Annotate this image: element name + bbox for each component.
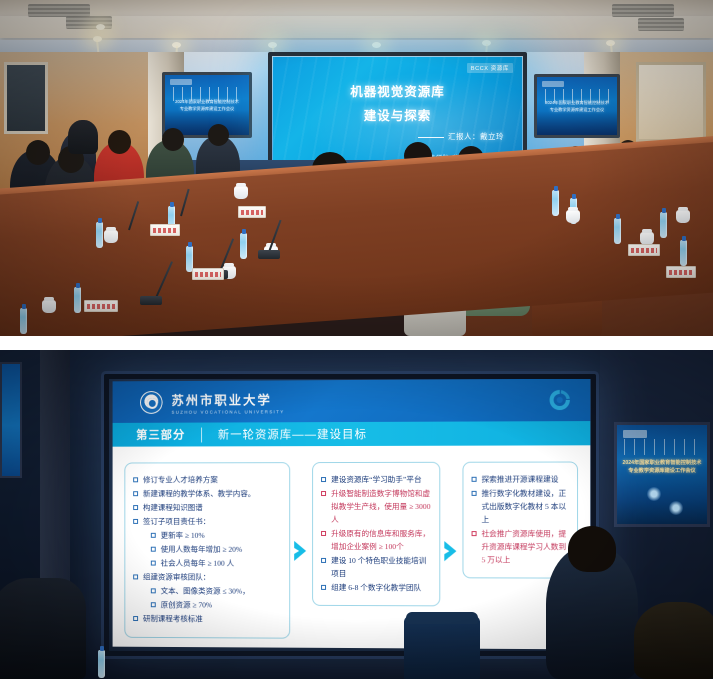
side-monitor-right: 2024年国家职业教育智能控制技术 专业教学资源库建设工作会议 (534, 74, 620, 138)
slide-bullet: 建设资源库“学习助手”平台 (321, 473, 431, 486)
slide-bullet: 社会推广资源库使用，提升资源库课程学习人数到 5 万以上 (471, 527, 569, 567)
bullet-square-icon (321, 558, 326, 563)
slide-column-2: 建设资源库“学习助手”平台升级智能制造数字博物馆和虚拟教学生产线，使用量 ≥ 3… (312, 462, 440, 607)
attendee-head (108, 130, 131, 154)
bullet-square-icon (321, 491, 326, 496)
ceiling-light (96, 24, 105, 30)
name-card (192, 268, 224, 280)
attendee-head (26, 140, 50, 165)
side-monitor-left-display: 2024年国家职业教育智能控制技术 专业教学资源库建设工作会议 (165, 75, 249, 135)
banner-line-2: 专业教学资源库建设工作会议 (540, 107, 614, 114)
bullet-square-icon (133, 505, 138, 510)
screen-corner-logo: BCCX 资源库 (467, 63, 513, 73)
projected-slide: 苏州市职业大学 SUZHOU VOCATIONAL UNIVERSITY 第三部… (113, 379, 591, 650)
banner-line-1: 2024年国家职业教育智能控制技术 (620, 459, 704, 468)
slide-bullet-text: 原创资源 ≥ 70% (161, 599, 213, 612)
slide-bullet-text: 文本、图像类资源 ≤ 30%， (161, 585, 250, 598)
slide-bullet-text: 社会推广资源库使用，提升资源库课程学习人数到 5 万以上 (481, 527, 568, 567)
name-card (666, 266, 696, 278)
university-name-block: 苏州市职业大学 SUZHOU VOCATIONAL UNIVERSITY (171, 389, 284, 414)
photo-gutter (0, 336, 713, 350)
window-left (4, 62, 48, 134)
slide-bullet-text: 探索推进开源课程建设 (481, 473, 558, 486)
chair-back (406, 612, 478, 624)
photo-conference-room-wide: 2024年国家职业教育智能控制技术 专业教学资源库建设工作会议 BCCX 资源库… (0, 0, 713, 336)
water-bottle (98, 650, 105, 678)
side-monitor-right-text: 2024年国家职业教育智能控制技术 专业教学资源库建设工作会议 (540, 100, 614, 113)
slide-bullet-text: 升级智能制造数字博物馆和虚拟教学生产线，使用量 ≥ 3000人 (331, 487, 431, 526)
name-card (84, 300, 118, 312)
tea-cup (42, 300, 56, 313)
window-right (636, 62, 706, 142)
screen-title-line-2: 建设与探索 (273, 105, 522, 124)
ac-vent-icon (66, 16, 112, 29)
slide-column-1: 修订专业人才培养方案新建课程的教学体系、教学内容。构建课程知识图谱签订子项目责任… (124, 462, 290, 638)
university-logo-icon (542, 81, 564, 87)
attendee-head (568, 526, 616, 572)
screen-title-line-1: 机器视觉资源库 (273, 81, 522, 100)
chair (404, 616, 480, 679)
section-title: 新一轮资源库——建设目标 (218, 426, 367, 442)
slide-bullet-text: 社会人员每年 ≥ 100 人 (161, 557, 234, 570)
light-orb (669, 501, 683, 515)
slide-bullet-text: 推行数字化教材建设，正式出版数字化教材 5 本以上 (481, 487, 568, 527)
bullet-square-icon (133, 519, 138, 524)
banner-line-2: 专业教学资源库建设工作会议 (168, 106, 246, 113)
water-bottle (96, 222, 103, 248)
ceiling-light (372, 42, 381, 48)
bullet-square-icon (133, 477, 138, 482)
microphone-base (258, 250, 280, 259)
slide-bullet: 建设 10 个特色职业技能培训项目 (321, 554, 431, 580)
slide-bullet: 研制课程考核标准 (133, 613, 281, 627)
water-bottle (552, 190, 559, 216)
ac-vent-icon (612, 4, 674, 17)
slide-bullet: 推行数字化教材建设，正式出版数字化教材 5 本以上 (471, 487, 569, 527)
attendee (68, 120, 98, 154)
slide-bullet-text: 签订子项目责任书： (143, 515, 210, 528)
water-bottle (680, 240, 687, 266)
screen-presenter: 汇报人：戴立玲 (418, 131, 504, 142)
university-emblem-icon (140, 390, 163, 413)
slide-bullet: 使用人数每年增加 ≥ 20% (133, 543, 281, 556)
decorative-lines (624, 439, 700, 455)
slide-bullet-text: 使用人数每年增加 ≥ 20% (161, 543, 243, 556)
section-label: 第三部分 (113, 427, 186, 443)
slide-bullet: 更新率 ≥ 10% (133, 529, 281, 542)
university-name-en: SUZHOU VOCATIONAL UNIVERSITY (171, 409, 284, 414)
side-monitor-right: 2024年国家职业教育智能控制技术 专业教学资源库建设工作会议 (614, 422, 710, 527)
banner-line-2: 专业教学资源库建设工作会议 (620, 467, 704, 476)
name-card (150, 224, 180, 236)
side-monitor-right-display: 2024年国家职业教育智能控制技术 专业教学资源库建设工作会议 (537, 77, 617, 135)
bullet-square-icon (471, 477, 476, 482)
tea-cup (234, 186, 248, 199)
chevron-right-icon (440, 538, 462, 564)
gear-icon (548, 388, 572, 412)
slide-bullet-text: 研制课程考核标准 (143, 613, 203, 626)
divider (201, 427, 202, 442)
tea-cup (566, 210, 580, 223)
light-orb (647, 487, 661, 501)
slide-bullet: 文本、图像类资源 ≤ 30%， (133, 585, 281, 598)
water-bottle (74, 287, 81, 313)
slide-bullet: 探索推进开源课程建设 (471, 473, 569, 486)
slide-bullet: 构建课程知识图谱 (133, 501, 281, 514)
slide-bullet: 升级原有的信息库和服务库，增加企业案例 ≥ 100个 (321, 527, 431, 553)
bullet-square-icon (321, 585, 326, 590)
bullet-square-icon (151, 533, 156, 538)
slide-bullet-text: 升级原有的信息库和服务库，增加企业案例 ≥ 100个 (331, 527, 431, 553)
slide-bullet-text: 建设 10 个特色职业技能培训项目 (331, 554, 431, 580)
university-name-cn: 苏州市职业大学 (171, 389, 284, 408)
bullet-square-icon (151, 589, 156, 594)
slide-bullet: 原创资源 ≥ 70% (133, 599, 281, 613)
side-monitor-text: 2024年国家职业教育智能控制技术 专业教学资源库建设工作会议 (620, 459, 704, 476)
chevron-right-icon (290, 538, 312, 564)
tea-cup (104, 230, 118, 243)
university-logo-icon (623, 430, 647, 438)
bullet-square-icon (321, 477, 326, 482)
water-bottle (660, 212, 667, 238)
bullet-square-icon (151, 603, 156, 608)
slide-bullet: 组建资源审核团队： (133, 571, 281, 584)
slide-bullet: 社会人员每年 ≥ 100 人 (133, 557, 281, 570)
water-bottle (20, 308, 27, 334)
banner-line-1: 2024年国家职业教育智能控制技术 (168, 99, 246, 106)
university-logo-icon (170, 79, 192, 85)
tea-cup (676, 210, 690, 223)
attendee-head (162, 128, 184, 151)
bullet-square-icon (471, 531, 476, 536)
attendee-head (208, 124, 229, 146)
slide-bullet: 修订专业人才培养方案 (133, 473, 281, 486)
slide-bullet: 新建课程的教学体系、教学内容。 (133, 487, 281, 500)
bullet-square-icon (133, 491, 138, 496)
slide-section-bar: 第三部分 新一轮资源库——建设目标 (113, 421, 591, 447)
side-monitor-display: 2024年国家职业教育智能控制技术 专业教学资源库建设工作会议 (617, 425, 707, 524)
attendee-foreground-left (0, 578, 86, 679)
attendee-shoulder (634, 602, 713, 679)
slide-bullet-text: 组建资源审核团队： (143, 571, 210, 584)
slide-bullet-text: 修订专业人才培养方案 (143, 473, 218, 486)
slide-bullet-text: 构建课程知识图谱 (143, 501, 203, 514)
banner-line-1: 2024年国家职业教育智能控制技术 (540, 100, 614, 107)
slide-bullet-text: 建设资源库“学习助手”平台 (331, 473, 421, 486)
screenshot-root: 2024年国家职业教育智能控制技术 专业教学资源库建设工作会议 BCCX 资源库… (0, 0, 713, 679)
microphone-base (140, 296, 162, 305)
slide-bullet: 升级智能制造数字博物馆和虚拟教学生产线，使用量 ≥ 3000人 (321, 487, 431, 526)
slide-bullet-text: 组建 6-8 个数字化教学团队 (331, 581, 421, 594)
ac-vent-icon (638, 18, 684, 31)
bullet-square-icon (151, 561, 156, 566)
slide-bullet: 组建 6-8 个数字化教学团队 (321, 581, 431, 594)
bullet-square-icon (151, 547, 156, 552)
name-card (628, 244, 660, 256)
bullet-square-icon (133, 617, 138, 622)
bullet-square-icon (471, 491, 476, 496)
water-bottle (240, 233, 247, 259)
slide-bullet-text: 更新率 ≥ 10% (161, 529, 205, 542)
slide-body: 修订专业人才培养方案新建课程的教学体系、教学内容。构建课程知识图谱签订子项目责任… (113, 445, 591, 649)
slide-header: 苏州市职业大学 SUZHOU VOCATIONAL UNIVERSITY (113, 379, 591, 423)
slide-bullet-text: 新建课程的教学体系、教学内容。 (143, 487, 255, 500)
slide-bullet: 签订子项目责任书： (133, 515, 281, 528)
photo-slide-closeup: 2024年国家职业教育智能控制技术 专业教学资源库建设工作会议 苏州市职业大学 … (0, 350, 713, 679)
left-monitor (0, 362, 22, 478)
bullet-square-icon (133, 575, 138, 580)
side-monitor-left-text: 2024年国家职业教育智能控制技术 专业教学资源库建设工作会议 (168, 99, 246, 112)
water-bottle (614, 218, 621, 244)
bullet-square-icon (321, 531, 326, 536)
screen-presenter-text: 汇报人：戴立玲 (448, 132, 504, 141)
name-card (238, 206, 266, 218)
